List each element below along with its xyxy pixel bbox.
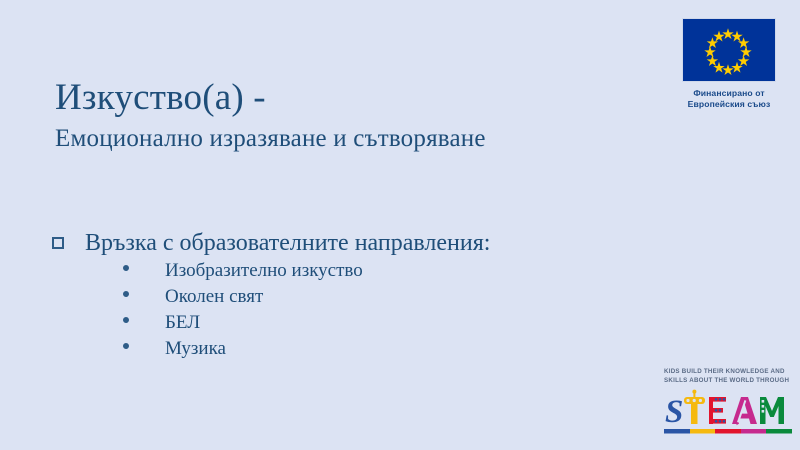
list-item-label: БЕЛ — [165, 313, 200, 332]
square-checkbox-bullet-icon — [52, 237, 67, 252]
title-block: Изкуство(а) - Емоционално изразяване и с… — [55, 78, 655, 154]
steam-color-bar — [664, 429, 792, 434]
steam-tagline-line2: SKILLS ABOUT THE WORLD THROUGH — [664, 377, 794, 386]
steam-logo-block: KIDS BUILD THEIR KNOWLEDGE AND SKILLS AB… — [664, 368, 794, 437]
list-item: Околен свят — [52, 287, 672, 313]
slide-title: Изкуство(а) - — [55, 78, 655, 118]
slide-canvas: Финансирано от Европейския съюз Изкуство… — [0, 0, 800, 450]
steam-letter-m-icon — [760, 397, 784, 424]
european-union-flag-icon — [682, 18, 776, 82]
steam-tagline-line1: KIDS BUILD THEIR KNOWLEDGE AND — [664, 368, 794, 377]
slide-subtitle: Емоционално изразяване и сътворяване — [55, 124, 655, 154]
svg-text:S: S — [665, 394, 683, 430]
eu-funding-emblem: Финансирано от Европейския съюз — [668, 18, 790, 109]
eu-funding-caption-line2: Европейския съюз — [668, 99, 790, 110]
dot-bullet-icon — [123, 317, 129, 323]
steam-letter-t-icon — [684, 390, 705, 424]
list-item-label: Изобразително изкуство — [165, 261, 363, 280]
eu-funding-caption: Финансирано от Европейския съюз — [668, 88, 790, 109]
steam-tagline: KIDS BUILD THEIR KNOWLEDGE AND SKILLS AB… — [664, 368, 794, 386]
content-block: Връзка с образователните направления: Из… — [52, 228, 672, 365]
dot-bullet-icon — [123, 291, 129, 297]
content-heading-label: Връзка с образователните направления: — [85, 228, 490, 258]
list-item: Музика — [52, 339, 672, 365]
list-item-label: Околен свят — [165, 287, 263, 306]
list-item: Изобразително изкуство — [52, 261, 672, 287]
dot-bullet-icon — [123, 265, 129, 271]
content-heading-row: Връзка с образователните направления: — [52, 228, 672, 258]
dot-bullet-icon — [123, 343, 129, 349]
eu-funding-caption-line1: Финансирано от — [668, 88, 790, 99]
steam-letter-e-icon — [709, 397, 726, 424]
list-item: БЕЛ — [52, 313, 672, 339]
steam-letter-a-icon — [732, 397, 757, 425]
steam-wordmark-icon: S — [664, 389, 792, 437]
list-item-label: Музика — [165, 339, 226, 358]
steam-letter-s-icon: S — [665, 394, 683, 430]
subject-list: Изобразително изкуство Околен свят БЕЛ М… — [52, 261, 672, 365]
